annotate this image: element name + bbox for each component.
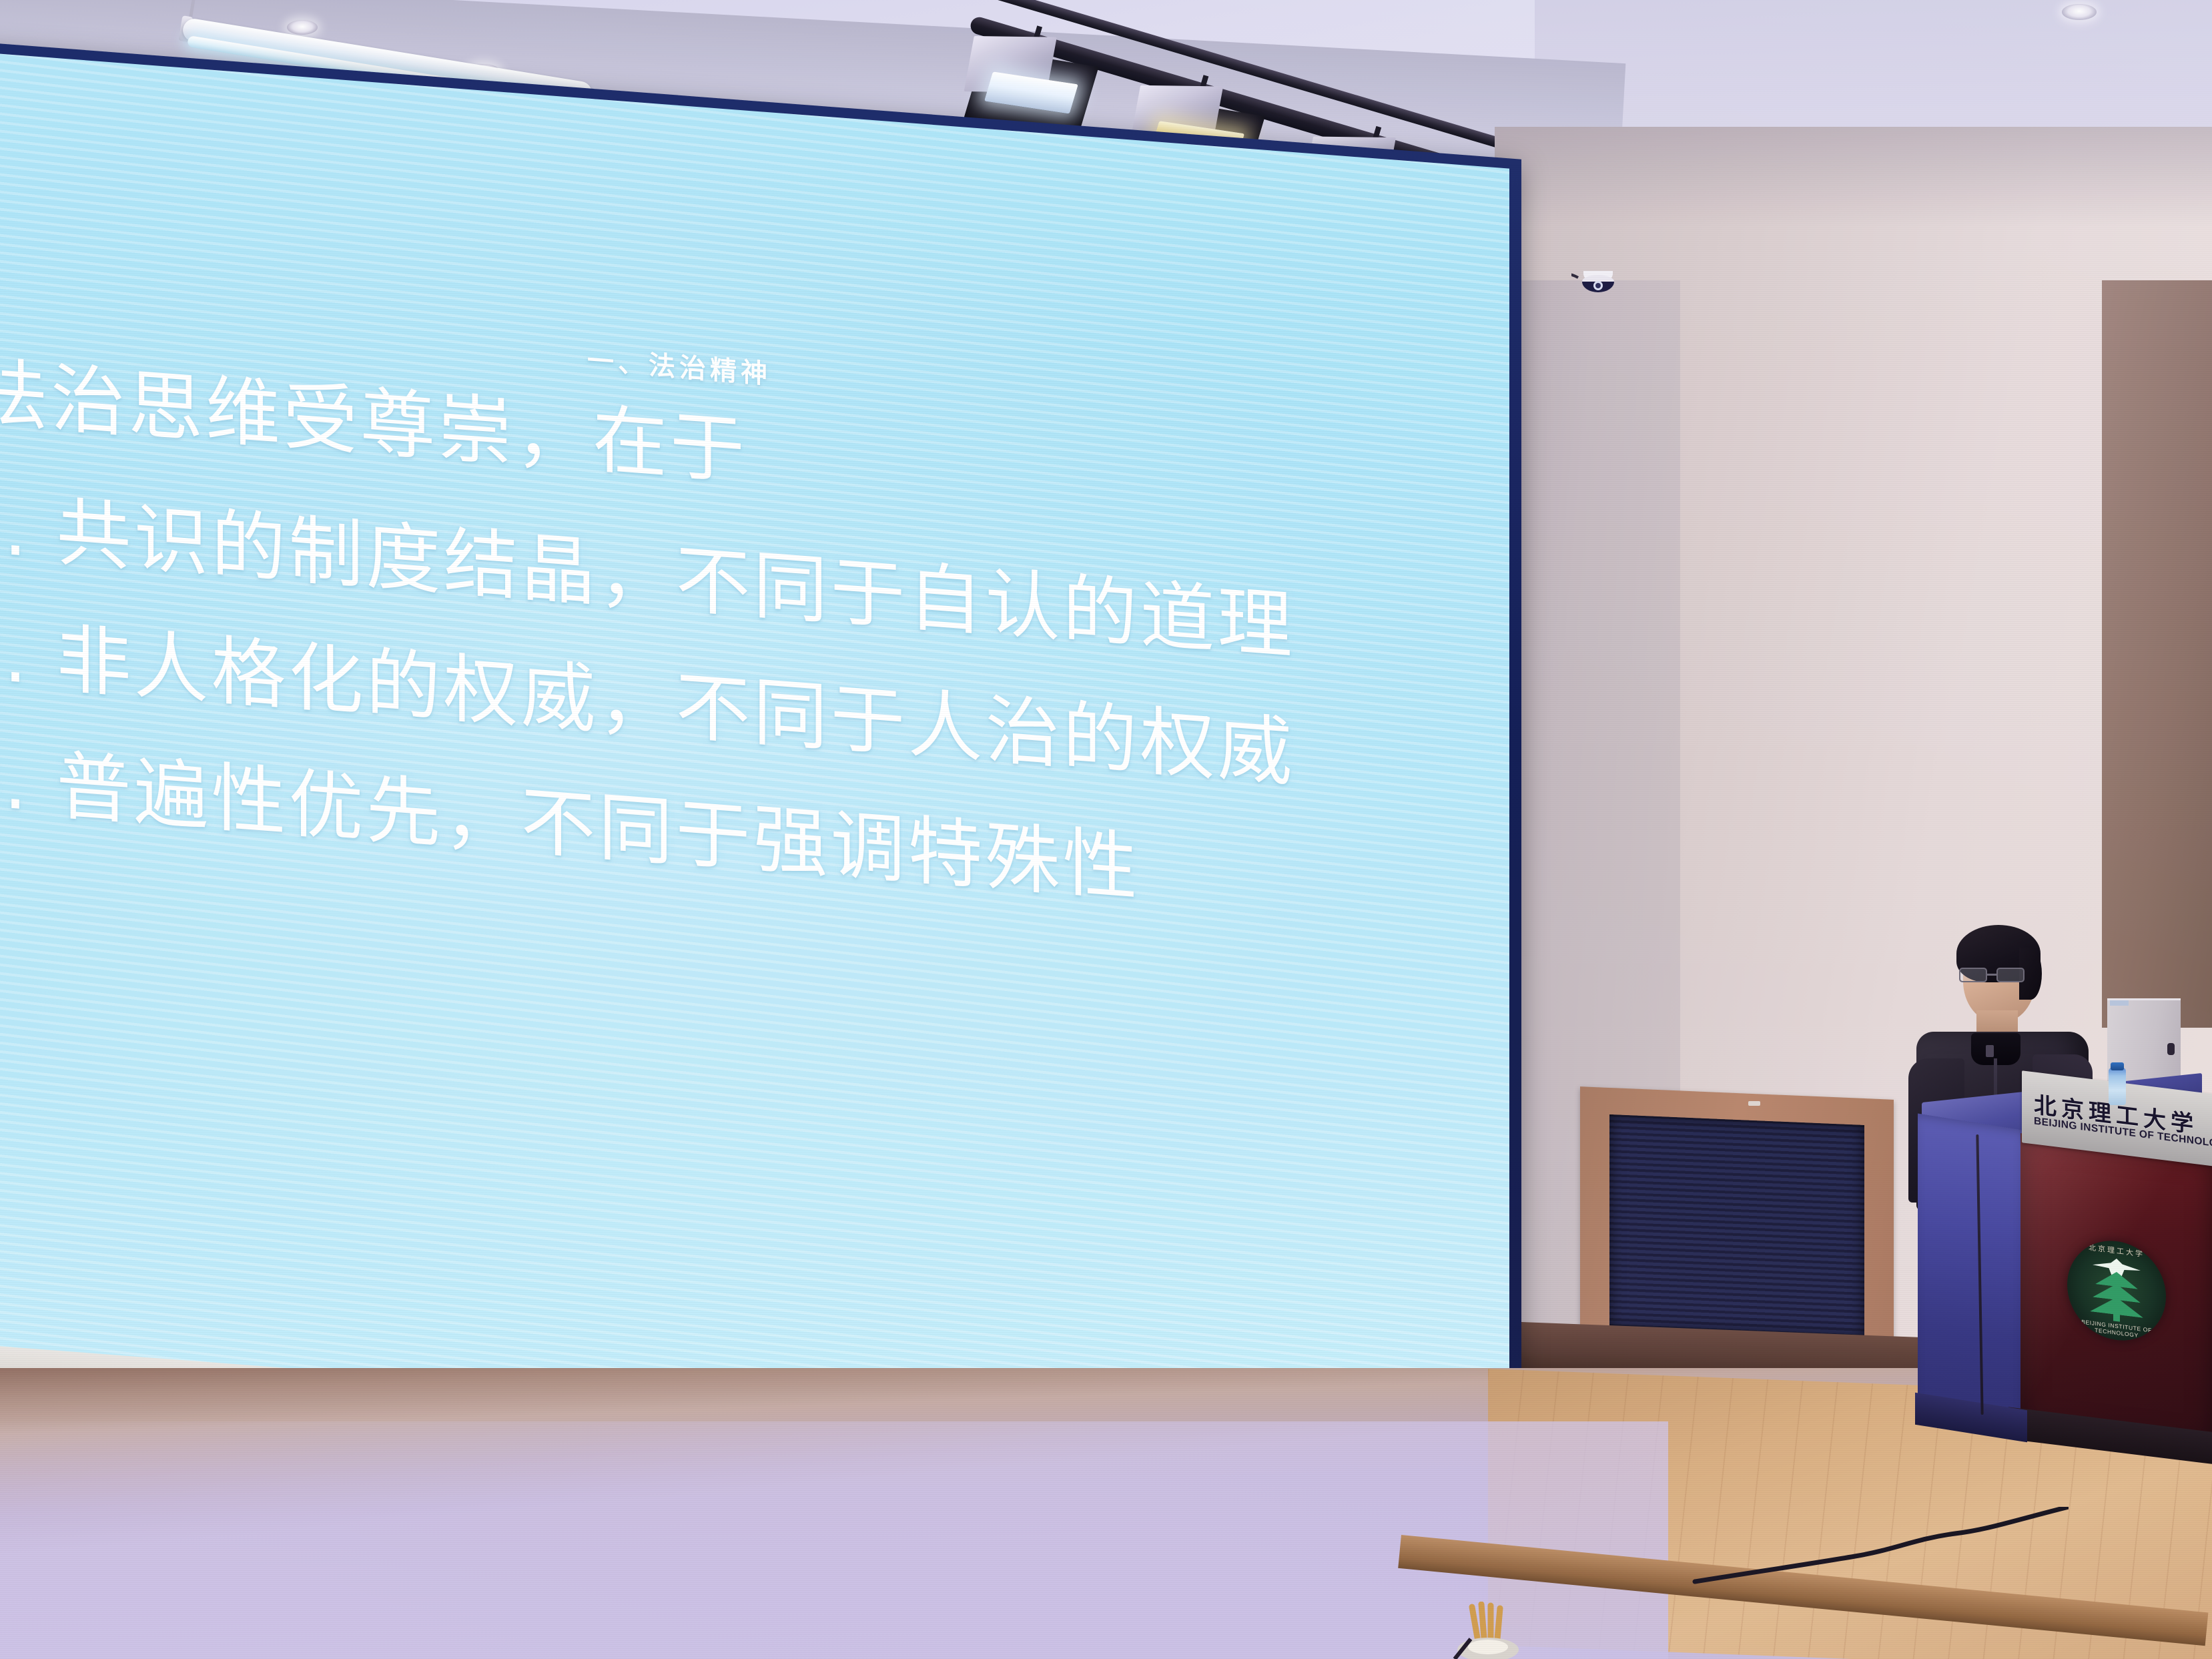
slide-header: 一、法治精神	[587, 339, 771, 392]
speaker-collar-tab	[1986, 1045, 1994, 1057]
vent-screw	[1748, 1101, 1760, 1106]
dome-surveillance-camera-icon	[1571, 267, 1625, 320]
slide-intro-line: 法治思维受尊崇，在于	[0, 332, 747, 499]
glasses-lens-right	[1996, 968, 2024, 982]
water-bottle[interactable]	[2109, 1068, 2126, 1105]
slide-item-3: 3. 普遍性优先，不同于强调特殊性	[0, 717, 1140, 916]
louvered-air-vent	[1609, 1114, 1864, 1337]
wall-shadow	[1495, 127, 2212, 227]
panel-knob[interactable]	[2167, 1043, 2175, 1055]
screen-vignette	[0, 51, 1509, 1470]
university-crest-logo: 北京理工大学 BEIJING INSTITUTE OF TECHNOLOGY	[2067, 1235, 2166, 1346]
downlight-icon	[2062, 4, 2097, 20]
glasses-icon	[1959, 968, 2034, 982]
podium-left-panel	[1918, 1114, 2031, 1432]
wall-right-return	[2102, 280, 2212, 1028]
panel-sticker	[2110, 1000, 2129, 1006]
slide-content: 一、法治精神 法治思维受尊崇，在于 1. 共识的制度结晶，不同于自认的道理 2.…	[0, 51, 1509, 1470]
crest-pine-tree-icon	[2090, 1258, 2143, 1326]
slide-item-2: 2. 非人格化的权威，不同于人治的权威	[0, 591, 1295, 801]
scene-root: 一、法治精神 法治思维受尊崇，在于 1. 共识的制度结晶，不同于自认的道理 2.…	[0, 0, 2212, 1659]
slide-item-1: 1. 共识的制度结晶，不同于自认的道理	[0, 464, 1295, 674]
floor-cable	[1495, 1507, 2069, 1587]
water-bottle-cap	[2111, 1062, 2124, 1070]
floor-uplight-fixture	[1441, 1602, 1555, 1659]
glasses-lens-left	[1959, 968, 1987, 982]
projection-screen: 一、法治精神 法治思维受尊崇，在于 1. 共识的制度结晶，不同于自认的道理 2.…	[0, 51, 1509, 1470]
lectern-podium[interactable]: 北京理工大学 BEIJING INSTITUTE OF TECHNOLOGY 北…	[1922, 1088, 2212, 1515]
